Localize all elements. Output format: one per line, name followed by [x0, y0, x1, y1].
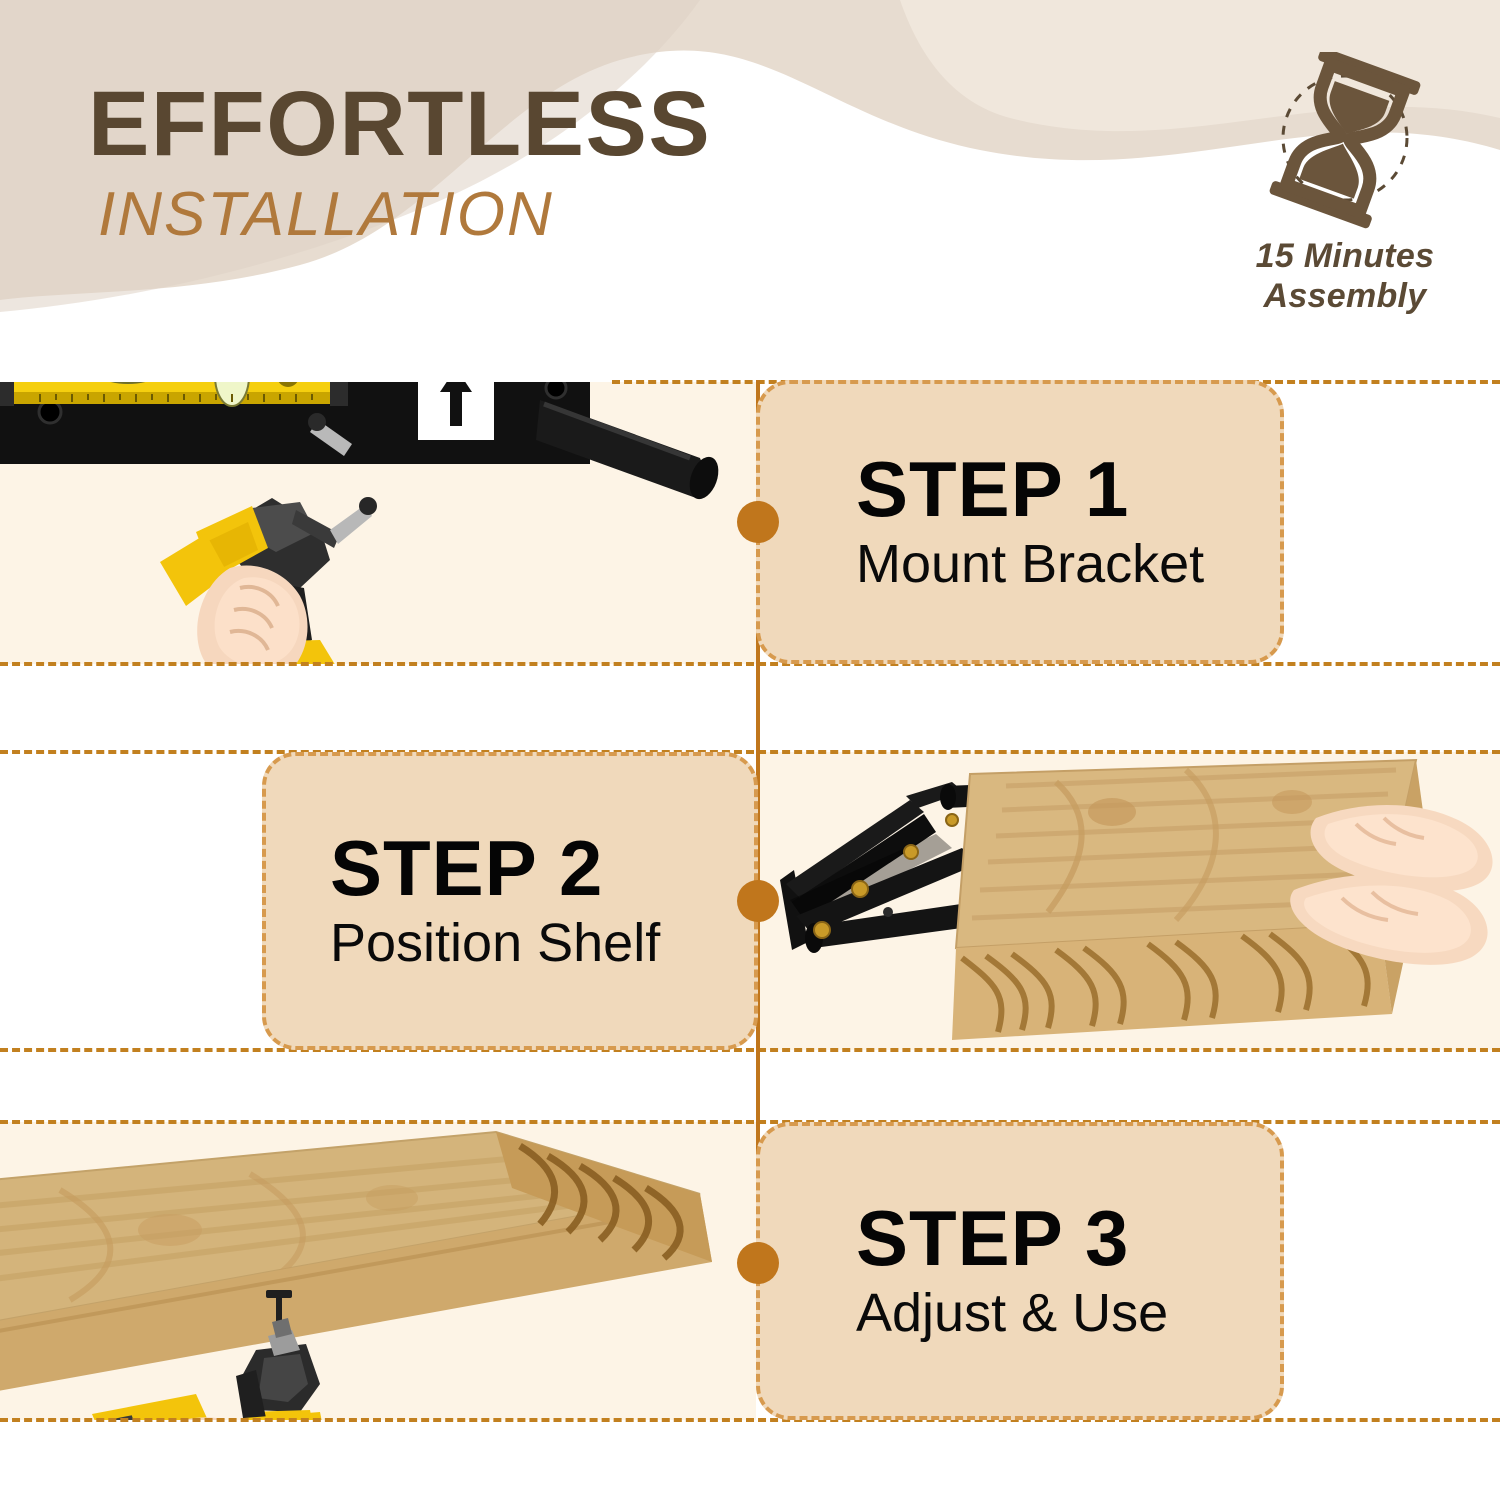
header-block: EFFORTLESS INSTALLATION — [88, 78, 711, 246]
step-2-desc: Position Shelf — [330, 913, 660, 973]
step-2-photo-band — [756, 752, 1500, 1050]
step-1-title: STEP 1 — [856, 449, 1129, 530]
timeline-dot-2[interactable] — [737, 880, 779, 922]
dash-rule-3-bottom — [0, 1418, 1500, 1422]
timeline-dot-3[interactable] — [737, 1242, 779, 1284]
shelf-bracket-hands-photo — [756, 752, 1500, 1050]
step-1-desc: Mount Bracket — [856, 534, 1204, 594]
page-title: EFFORTLESS — [88, 78, 711, 170]
page-subtitle: INSTALLATION — [98, 184, 711, 246]
step-2-card[interactable]: STEP 2 Position Shelf — [262, 752, 758, 1050]
badge-line-2: Assembly — [1220, 276, 1470, 316]
hourglass-icon — [1250, 52, 1440, 232]
step-3-card[interactable]: STEP 3 Adjust & Use — [756, 1122, 1284, 1420]
assembly-time-badge: 15 Minutes Assembly — [1220, 52, 1470, 316]
bracket-level-drill-photo — [0, 382, 756, 664]
dash-rule-3-top — [0, 1120, 1500, 1124]
dash-rule-1-bottom — [0, 662, 1500, 666]
cordless-drill — [160, 497, 377, 664]
dash-rule-2-bottom — [0, 1048, 1500, 1052]
step-3-desc: Adjust & Use — [856, 1283, 1168, 1343]
step-3-title: STEP 3 — [856, 1198, 1129, 1279]
badge-line-1: 15 Minutes — [1220, 236, 1470, 276]
wood-shelf-board — [0, 1132, 712, 1396]
dash-rule-2-top — [0, 750, 1500, 754]
infographic-canvas: EFFORTLESS INSTALLATION 15 Minutes Assem… — [0, 0, 1500, 1500]
step-3-photo-band — [0, 1122, 756, 1420]
spirit-level — [0, 382, 348, 406]
badge-text-block: 15 Minutes Assembly — [1220, 236, 1470, 316]
step-1-photo-band — [0, 382, 756, 664]
step-2-title: STEP 2 — [330, 828, 603, 909]
timeline-dot-1[interactable] — [737, 501, 779, 543]
step-1-card[interactable]: STEP 1 Mount Bracket — [756, 380, 1284, 664]
mounted-shelf-drill-photo — [0, 1122, 756, 1420]
